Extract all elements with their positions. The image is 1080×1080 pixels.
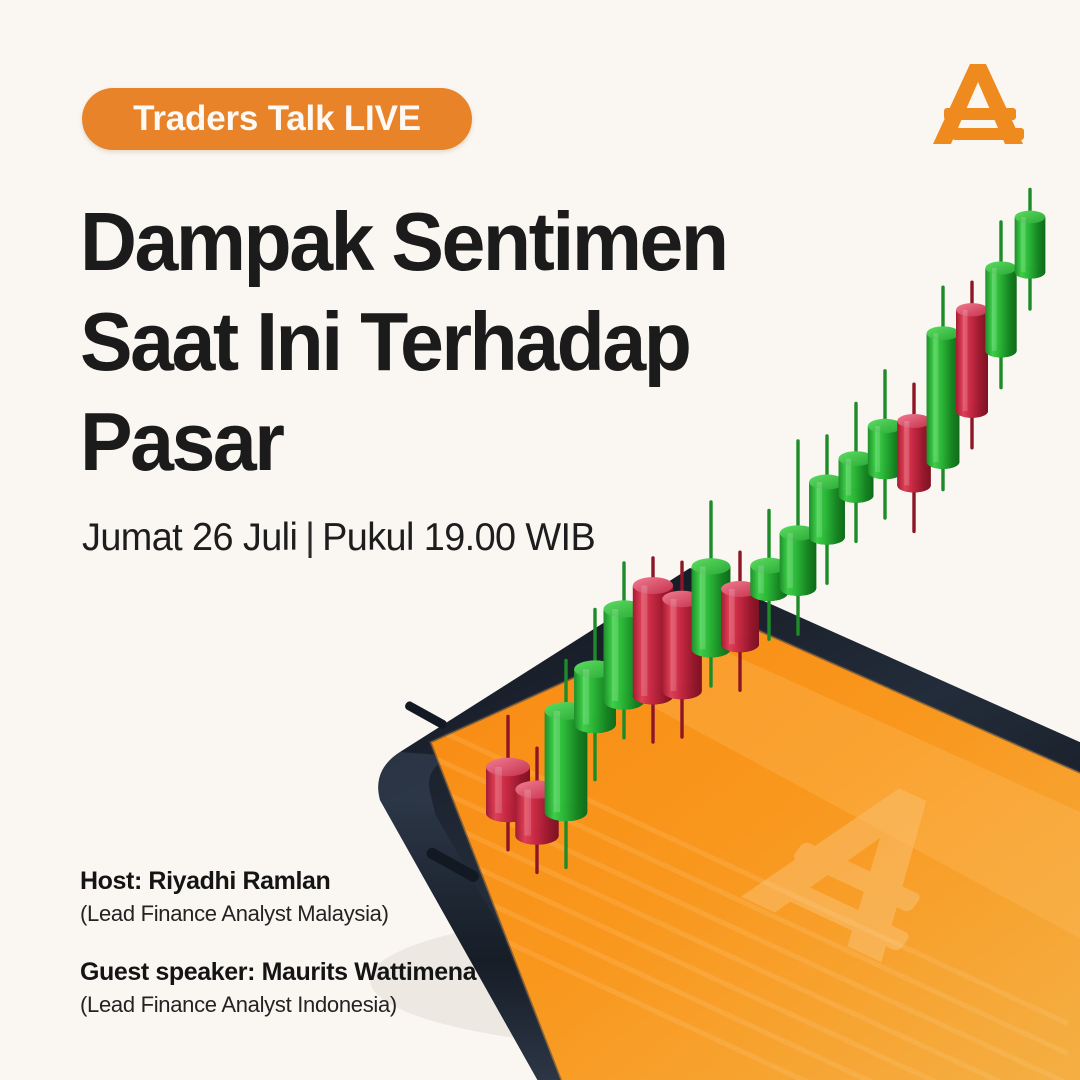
event-date: Jumat 26 Juli [82,516,297,559]
poster-canvas: Traders Talk LIVE Dampak Sentimen Saat I… [0,0,1080,1080]
headline-line-3: Pasar [80,392,727,492]
credit-guest: Guest speaker: Maurits Wattimena (Lead F… [80,957,476,1020]
credit-host: Host: Riyadhi Ramlan (Lead Finance Analy… [80,866,476,929]
event-time: Pukul 19.00 WIB [322,516,595,559]
page-title: Dampak Sentimen Saat Ini Terhadap Pasar [80,192,727,492]
datetime-separator: | [297,516,322,559]
headline-line-2: Saat Ini Terhadap [80,292,727,392]
guest-role: (Lead Finance Analyst Indonesia) [80,990,476,1020]
ascend-a-monogram-logo [930,58,1030,162]
host-role: (Lead Finance Analyst Malaysia) [80,899,476,929]
headline-line-1: Dampak Sentimen [80,192,727,292]
guest-name: Guest speaker: Maurits Wattimena [80,957,476,987]
speaker-credits: Host: Riyadhi Ramlan (Lead Finance Analy… [80,866,476,1048]
event-datetime: Jumat 26 Juli|Pukul 19.00 WIB [82,516,595,560]
host-name: Host: Riyadhi Ramlan [80,866,476,896]
live-badge: Traders Talk LIVE [82,88,472,150]
live-badge-label: Traders Talk LIVE [133,99,421,139]
